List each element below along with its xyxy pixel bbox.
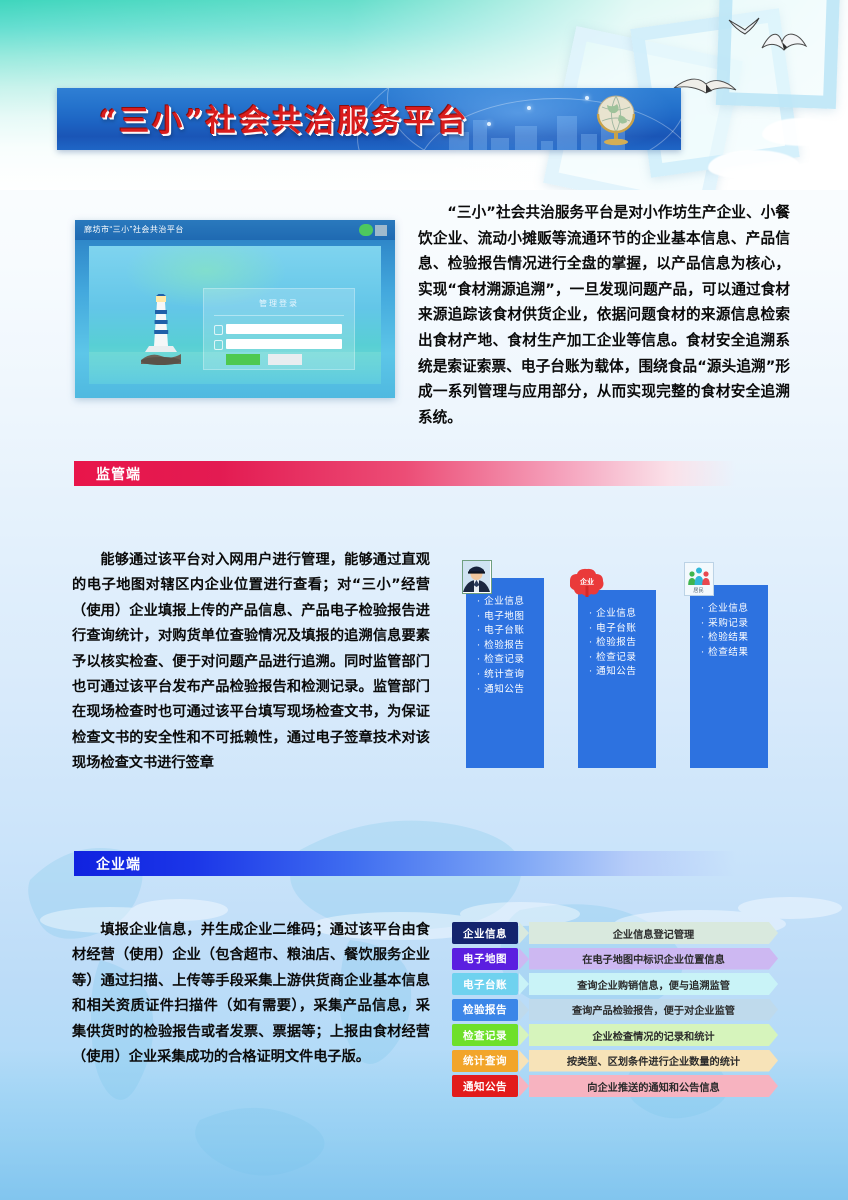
intro-paragraph: “三小”社会共治服务平台是对小作坊生产企业、小餐饮企业、流动小摊贩等流通环节的企…: [418, 200, 790, 430]
list-item: 电子地图: [477, 610, 544, 625]
feature-value: 在电子地图中标识企业位置信息: [529, 948, 778, 970]
banner-dot-decoration: [527, 106, 531, 110]
login-window-title: 廊坊市“三小”社会共治平台: [75, 220, 395, 240]
card-enterprise-role[interactable]: 企业信息 电子台账 检验报告 检查记录 通知公告: [578, 590, 656, 768]
list-item: 采购记录: [701, 617, 768, 632]
password-input[interactable]: [226, 339, 342, 349]
feature-key: 检验报告: [452, 999, 518, 1021]
seagull-icon: [672, 72, 738, 100]
table-row[interactable]: 检查记录 企业检查情况的记录和统计: [452, 1024, 778, 1046]
list-item: 检验报告: [589, 636, 656, 651]
residents-icon-label: 居民: [693, 587, 703, 594]
list-item: 企业信息: [589, 607, 656, 622]
login-form-title: 管理登录: [204, 298, 354, 309]
residents-people-icon: 居民: [684, 562, 714, 596]
feature-key: 电子台账: [452, 973, 518, 995]
enterprise-badge-icon: 企业: [570, 568, 604, 603]
list-item: 检查结果: [701, 646, 768, 661]
list-item: 通知公告: [477, 683, 544, 698]
list-item: 电子台账: [589, 622, 656, 637]
section-title-enterprise: 企业端: [96, 854, 141, 874]
list-item: 企业信息: [477, 595, 544, 610]
cloud-decoration: [762, 118, 838, 146]
banner-dot-decoration: [487, 122, 491, 126]
card-supervisor-role[interactable]: 企业信息 电子地图 电子台账 检验报告 检查记录 统计查询 通知公告: [466, 578, 544, 768]
inspector-officer-icon: [462, 560, 492, 594]
feature-value: 企业信息登记管理: [529, 922, 778, 944]
skyline-decoration: [557, 116, 577, 150]
arrow-right-icon: [519, 973, 529, 995]
skyline-decoration: [515, 126, 537, 150]
login-submit-button[interactable]: [226, 354, 260, 365]
supervisor-paragraph: 能够通过该平台对入网用户进行管理，能够通过直观的电子地图对辖区内企业位置进行查看…: [72, 548, 430, 777]
enterprise-badge-label: 企业: [579, 577, 594, 586]
window-control: [375, 225, 387, 236]
globe-icon: [589, 91, 643, 147]
lighthouse-icon: [141, 294, 181, 366]
table-row[interactable]: 电子地图 在电子地图中标识企业位置信息: [452, 948, 778, 970]
list-item: 检验结果: [701, 631, 768, 646]
divider: [214, 315, 344, 316]
seagull-icon: [760, 28, 808, 62]
feature-key: 电子地图: [452, 948, 518, 970]
feature-value: 查询企业购销信息，便与追溯监管: [529, 973, 778, 995]
table-row[interactable]: 检验报告 查询产品检验报告，便于对企业监管: [452, 999, 778, 1021]
feature-value: 向企业推送的通知和公告信息: [529, 1075, 778, 1097]
arrow-right-icon: [519, 1075, 529, 1097]
table-row[interactable]: 电子台账 查询企业购销信息，便与追溯监管: [452, 973, 778, 995]
skyline-decoration: [491, 138, 509, 150]
table-row[interactable]: 企业信息 企业信息登记管理: [452, 922, 778, 944]
feature-value: 按类型、区划条件进行企业数量的统计: [529, 1050, 778, 1072]
list-item: 检查记录: [477, 653, 544, 668]
login-reset-button[interactable]: [268, 354, 302, 365]
skyline-decoration: [473, 120, 487, 150]
card-item-list: 企业信息 电子地图 电子台账 检验报告 检查记录 统计查询 通知公告: [466, 578, 544, 697]
table-row[interactable]: 统计查询 按类型、区划条件进行企业数量的统计: [452, 1050, 778, 1072]
username-input[interactable]: [226, 324, 342, 334]
login-form-card: 管理登录: [203, 288, 355, 370]
feature-value: 企业检查情况的记录和统计: [529, 1024, 778, 1046]
login-button-row: [226, 354, 354, 365]
list-item: 检查记录: [589, 651, 656, 666]
enterprise-paragraph: 填报企业信息，并生成企业二维码；通过该平台由食材经营（使用）企业（包含超市、粮油…: [72, 918, 430, 1070]
arrow-right-icon: [519, 922, 529, 944]
feature-value: 查询产品检验报告，便于对企业监管: [529, 999, 778, 1021]
feature-key: 检查记录: [452, 1024, 518, 1046]
seagull-icon: [727, 14, 761, 40]
card-item-list: 企业信息 电子台账 检验报告 检查记录 通知公告: [578, 590, 656, 680]
cloud-decoration: [784, 162, 848, 188]
page-title: “三小”社会共治服务平台: [99, 96, 470, 140]
list-item: 检验报告: [477, 639, 544, 654]
feature-key: 企业信息: [452, 922, 518, 944]
arrow-right-icon: [519, 1050, 529, 1072]
list-item: 企业信息: [701, 602, 768, 617]
page-title-banner: “三小”社会共治服务平台: [57, 88, 681, 150]
table-row[interactable]: 通知公告 向企业推送的通知和公告信息: [452, 1075, 778, 1097]
enterprise-feature-table: 企业信息 企业信息登记管理 电子地图 在电子地图中标识企业位置信息 电子台账 查…: [452, 922, 778, 1101]
list-item: 电子台账: [477, 624, 544, 639]
feature-key: 统计查询: [452, 1050, 518, 1072]
status-indicator: [359, 224, 373, 236]
list-item: 统计查询: [477, 668, 544, 683]
skyline-decoration: [541, 141, 553, 150]
arrow-right-icon: [519, 1024, 529, 1046]
arrow-right-icon: [519, 999, 529, 1021]
section-header-enterprise: 企业端: [74, 851, 736, 876]
login-hero-image: 管理登录: [89, 246, 381, 384]
login-window-controls: [359, 224, 387, 236]
section-header-supervisor: 监管端: [74, 461, 736, 486]
login-screenshot: 廊坊市“三小”社会共治平台 管理登录: [75, 220, 395, 398]
arrow-right-icon: [519, 948, 529, 970]
feature-key: 通知公告: [452, 1075, 518, 1097]
section-title-supervisor: 监管端: [96, 464, 141, 484]
list-item: 通知公告: [589, 665, 656, 680]
card-item-list: 企业信息 采购记录 检验结果 检查结果: [690, 585, 768, 660]
card-resident-role[interactable]: 企业信息 采购记录 检验结果 检查结果: [690, 585, 768, 768]
